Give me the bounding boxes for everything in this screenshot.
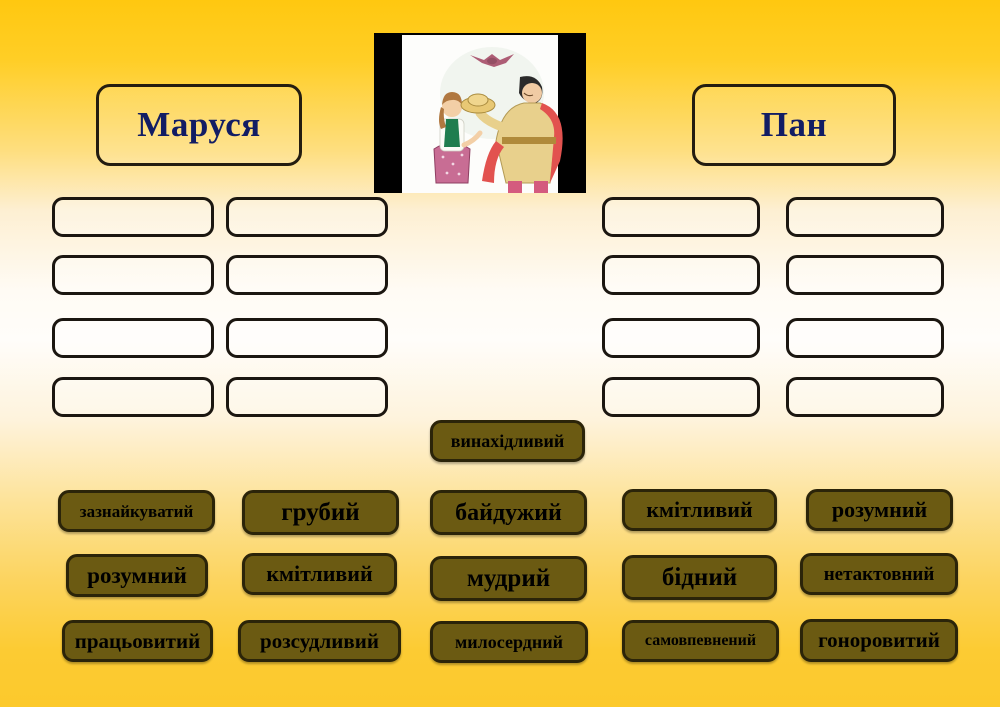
word-tile-label: кмітливий [266,563,372,585]
answer-slot-right-3[interactable] [602,255,760,295]
answer-slot-left-1[interactable] [52,197,214,237]
answer-slot-right-5[interactable] [602,318,760,358]
word-tile[interactable]: бідний [622,555,777,600]
answer-slot-left-2[interactable] [226,197,388,237]
word-tile-label: мудрий [467,566,550,591]
answer-slot-right-2[interactable] [786,197,944,237]
word-tile-label: розумний [87,564,187,587]
word-tile[interactable]: гоноровитий [800,619,958,662]
word-tile[interactable]: кмітливий [242,553,397,595]
word-tile-label: розсудливий [260,631,379,652]
word-tile-label: байдужий [455,501,562,525]
word-tile[interactable]: самовпевнений [622,620,779,662]
word-tile[interactable]: байдужий [430,490,587,535]
illustration-artwork [374,33,586,193]
word-tile-label: милосердний [455,633,563,651]
answer-slot-left-5[interactable] [52,318,214,358]
word-tile[interactable]: розсудливий [238,620,401,662]
word-tile[interactable]: розумний [66,554,208,597]
word-tile-label: розумний [832,499,927,521]
word-tile-label: працьовитий [75,631,200,652]
word-tile-label: кмітливий [646,499,752,521]
answer-slot-left-7[interactable] [52,377,214,417]
word-tile[interactable]: грубий [242,490,399,535]
word-tile-label: грубий [281,500,359,525]
word-tile-label: нетактовний [824,565,935,584]
category-box-marusya[interactable]: Маруся [96,84,302,166]
answer-slot-left-4[interactable] [226,255,388,295]
category-label-pan: Пан [761,105,827,145]
word-tile-label: гоноровитий [818,630,940,651]
word-tile[interactable]: зазнайкуватий [58,490,215,532]
answer-slot-right-1[interactable] [602,197,760,237]
answer-slot-left-6[interactable] [226,318,388,358]
word-tile[interactable]: винахідливий [430,420,585,462]
answer-slot-right-8[interactable] [786,377,944,417]
word-tile[interactable]: працьовитий [62,620,213,662]
answer-slot-right-4[interactable] [786,255,944,295]
word-tile-label: зазнайкуватий [80,503,194,520]
answer-slot-left-8[interactable] [226,377,388,417]
answer-slot-left-3[interactable] [52,255,214,295]
marusya-and-pan-illustration [374,33,586,193]
word-tile[interactable]: нетактовний [800,553,958,595]
word-tile[interactable]: милосердний [430,621,588,663]
answer-slot-right-6[interactable] [786,318,944,358]
word-tile[interactable]: мудрий [430,556,587,601]
word-tile[interactable]: розумний [806,489,953,531]
word-tile-label: самовпевнений [645,633,756,649]
word-tile[interactable]: кмітливий [622,489,777,531]
word-tile-label: винахідливий [451,432,565,450]
slide-canvas: Маруся Пан [0,0,1000,707]
answer-slot-right-7[interactable] [602,377,760,417]
word-tile-label: бідний [662,565,737,590]
category-box-pan[interactable]: Пан [692,84,896,166]
category-label-marusya: Маруся [137,105,260,145]
